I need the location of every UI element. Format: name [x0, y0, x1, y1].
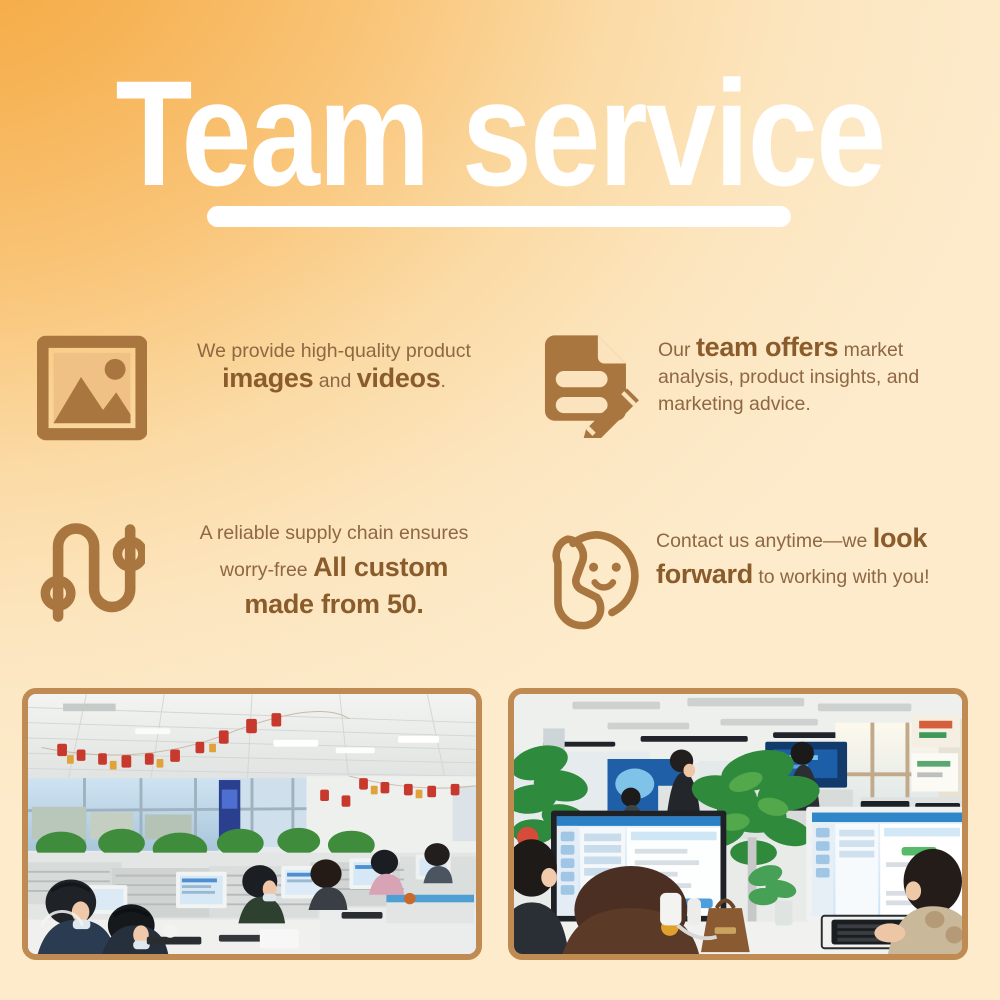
phone-smile-icon — [528, 520, 644, 636]
feature-contact-text: Contact us anytime—we lookforward to wor… — [644, 514, 990, 594]
body-text: Contact us anytime—we — [656, 530, 873, 552]
body-text: and — [313, 370, 356, 392]
body-text: Our — [658, 339, 696, 361]
feature-images-line: images and videos. — [164, 365, 504, 395]
team-service-banner: Team service We provide high-quality pro… — [0, 0, 1000, 1000]
body-text: marketing advice. — [658, 393, 811, 415]
page-title: Team service — [80, 58, 920, 208]
photo-office-wide — [22, 688, 482, 960]
photo-row — [0, 688, 1000, 968]
body-text: . — [440, 370, 445, 392]
emphasis-text: team offers — [696, 332, 838, 362]
feature-document-line: Our team offers market — [658, 334, 990, 364]
feature-contact-line: forward to working with you! — [656, 558, 990, 594]
emphasis-text: look — [873, 523, 927, 553]
emphasis-text: made from 50. — [244, 589, 423, 619]
feature-supply: A reliable supply chain ensuresworry-fre… — [34, 508, 504, 630]
document-pencil-icon — [528, 326, 644, 442]
emphasis-text: images — [222, 363, 313, 393]
emphasis-text: All custom — [313, 552, 448, 582]
body-text: worry-free — [220, 559, 313, 581]
feature-images: We provide high-quality productimages an… — [34, 330, 504, 446]
body-text: to working with you! — [753, 566, 930, 588]
emphasis-text: videos — [357, 363, 441, 393]
feature-contact: Contact us anytime—we lookforward to wor… — [528, 514, 990, 636]
feature-supply-text: A reliable supply chain ensuresworry-fre… — [150, 508, 504, 624]
body-text: A reliable supply chain ensures — [200, 522, 469, 544]
feature-contact-line: Contact us anytime—we look — [656, 522, 990, 558]
body-text: market — [838, 339, 903, 361]
feature-supply-line: A reliable supply chain ensures — [164, 516, 504, 550]
title-underline-bar — [207, 206, 791, 227]
body-text: analysis, product insights, and — [658, 366, 919, 388]
image-icon — [34, 330, 150, 446]
body-text: We provide high-quality product — [197, 340, 471, 362]
feature-images-text: We provide high-quality productimages an… — [150, 330, 504, 395]
feature-supply-line: worry-free All custom — [164, 550, 504, 587]
supply-chain-icon — [34, 514, 150, 630]
emphasis-text: forward — [656, 559, 753, 589]
title-block: Team service — [0, 58, 1000, 208]
feature-images-line: We provide high-quality product — [164, 338, 504, 365]
feature-document-line: marketing advice. — [658, 391, 990, 418]
photo-office-desks — [508, 688, 968, 960]
feature-supply-line: made from 50. — [164, 587, 504, 624]
feature-document-line: analysis, product insights, and — [658, 364, 990, 391]
feature-document-text: Our team offers marketanalysis, product … — [644, 326, 990, 418]
feature-document: Our team offers marketanalysis, product … — [528, 326, 990, 442]
features-grid: We provide high-quality productimages an… — [0, 326, 1000, 656]
